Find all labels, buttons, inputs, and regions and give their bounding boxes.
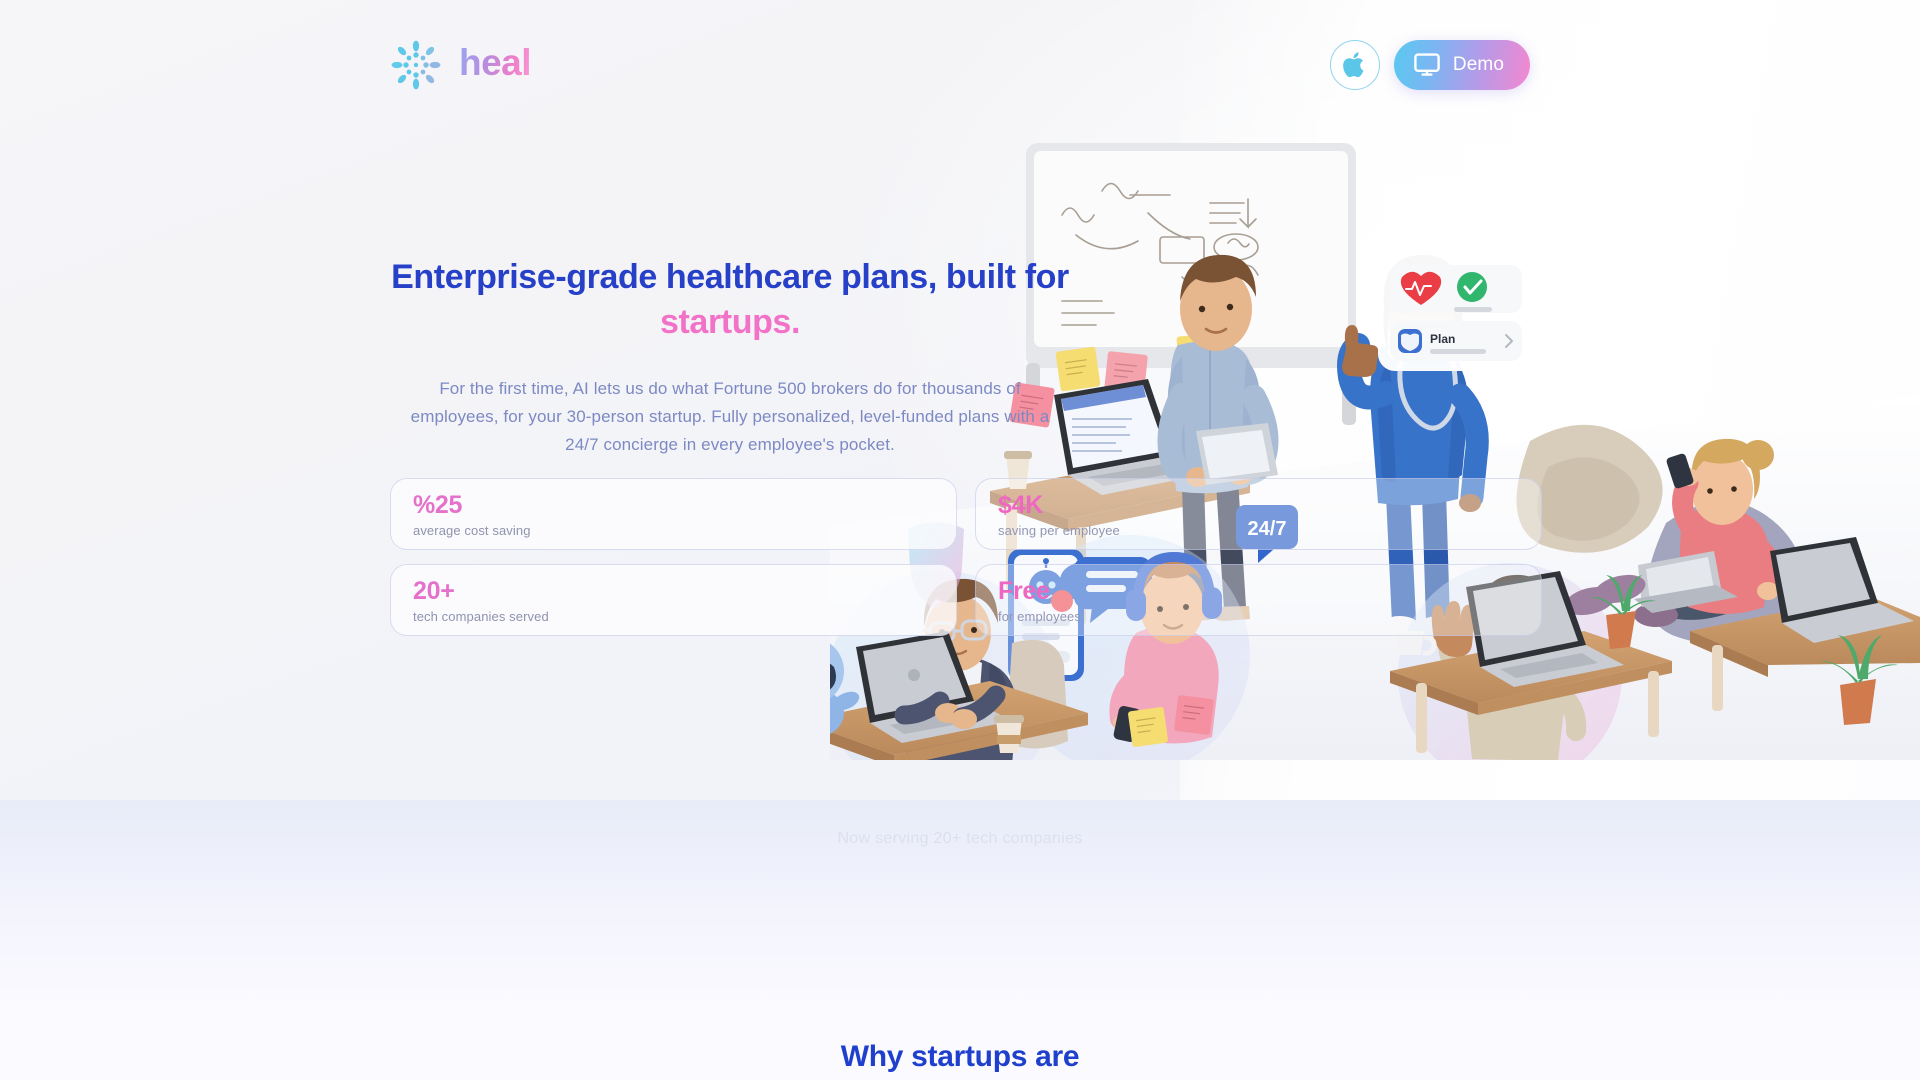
stat-value: 20+ [413, 577, 934, 605]
stat-card: 20+ tech companies served [390, 564, 957, 636]
why-section: Why startups are switching to Heal. [0, 1010, 1920, 1080]
logo-text: heal [459, 42, 531, 88]
heal-burst-icon [390, 39, 442, 91]
shield-check-icon [1398, 329, 1422, 353]
stat-label: tech companies served [413, 609, 934, 624]
demo-button-label: Demo [1453, 54, 1504, 76]
stat-label: for employees [998, 609, 1519, 624]
stat-value: %25 [413, 491, 934, 519]
check-circle-icon [1457, 272, 1487, 302]
stat-label: average cost saving [413, 523, 934, 538]
stat-cards: %25 average cost saving $4K saving per e… [390, 478, 1542, 636]
monitor-icon [1414, 53, 1440, 77]
stat-label: saving per employee [998, 523, 1519, 538]
social-proof-band: Now serving 20+ tech companies [0, 800, 1920, 1010]
stat-value: Free [998, 577, 1519, 605]
plan-card: Plan [1378, 253, 1534, 371]
stat-card: Free for employees [975, 564, 1542, 636]
landing-page: Plan 24/7 [0, 0, 1920, 1080]
headline-main: Enterprise-grade healthcare plans, built… [391, 258, 1069, 296]
header-actions: Demo [1330, 40, 1530, 90]
headline-highlight: startups. [660, 303, 800, 341]
page-title: Enterprise-grade healthcare plans, built… [390, 255, 1070, 345]
stat-card: %25 average cost saving [390, 478, 957, 550]
svg-text:Plan: Plan [1430, 332, 1455, 346]
hero-subcopy: For the first time, AI lets us do what F… [390, 375, 1070, 458]
apple-download-button[interactable] [1330, 40, 1380, 90]
site-header: heal Demo [0, 0, 1920, 130]
demo-button[interactable]: Demo [1394, 40, 1530, 90]
why-section-title: Why startups are switching to Heal. [835, 1010, 1085, 1080]
why-title-line1: Why startups are [835, 1037, 1085, 1077]
stat-value: $4K [998, 491, 1519, 519]
apple-icon [1343, 51, 1367, 79]
logo[interactable]: heal [390, 39, 531, 91]
hero-copy: Enterprise-grade healthcare plans, built… [390, 255, 1070, 458]
social-proof-text: Now serving 20+ tech companies [837, 830, 1082, 1010]
stat-card: $4K saving per employee [975, 478, 1542, 550]
